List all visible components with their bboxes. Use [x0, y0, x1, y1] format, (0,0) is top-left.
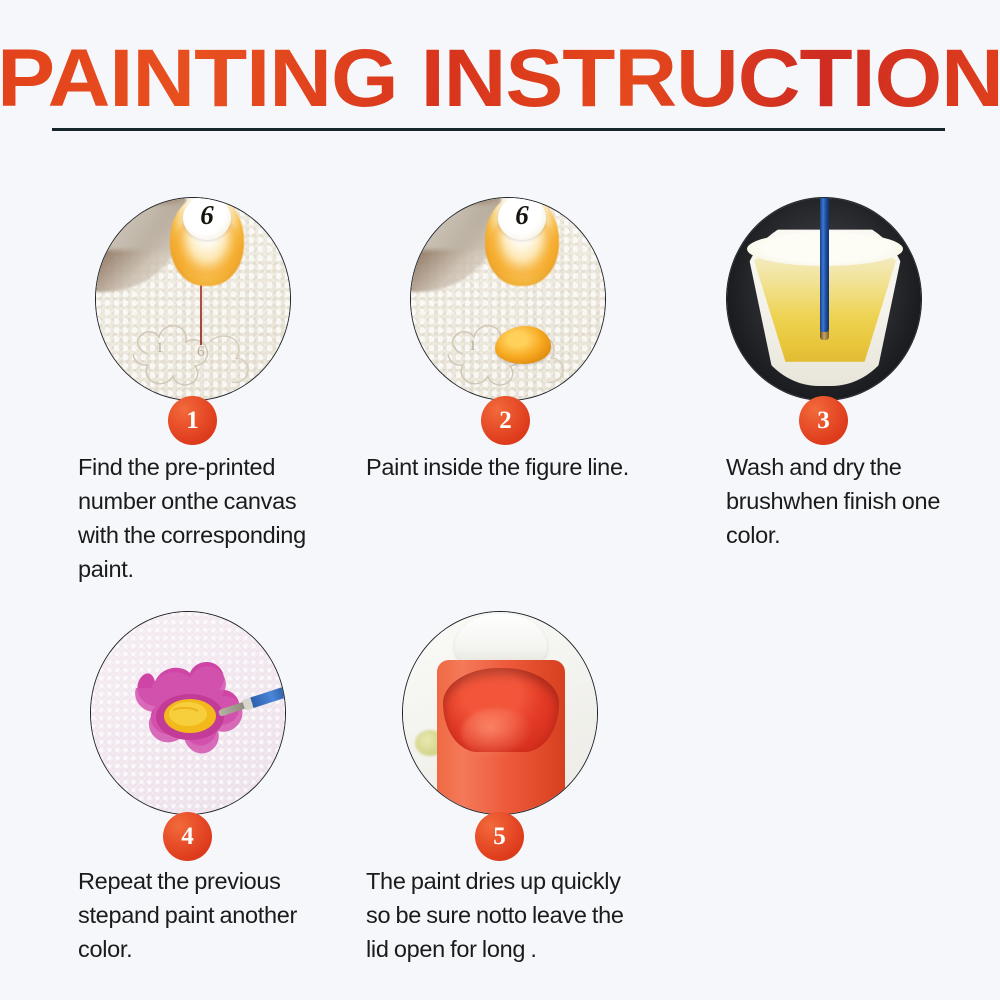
orange-paint-blob — [495, 326, 551, 364]
step-4-badge: 4 — [163, 812, 212, 861]
canvas-number-6: 6 — [197, 344, 205, 361]
paint-pot: 6 — [485, 197, 559, 286]
paint-pot: 6 — [170, 197, 244, 286]
steps-grid: 1 6 6 1 Find the pre-printed number onth… — [0, 0, 1000, 1000]
step-1: 1 6 6 — [95, 197, 291, 401]
pot-number-label: 6 — [170, 200, 244, 231]
canvas-number-1: 1 — [469, 338, 477, 355]
step-4-caption: Repeat the previous stepand paint anothe… — [78, 864, 333, 966]
pencil-flower-outline — [114, 308, 276, 396]
blue-brush-handle — [820, 197, 829, 332]
step-3-image — [726, 197, 922, 401]
table-edge-highlight — [410, 204, 497, 250]
canvas-number-1: 1 — [156, 340, 164, 357]
step-5-image — [402, 611, 598, 815]
step-1-caption: Find the pre-printed number onthe canvas… — [78, 450, 338, 586]
step-2-caption: Paint inside the figure line. — [366, 450, 656, 484]
painted-pink-flower — [101, 654, 279, 774]
step-2-badge: 2 — [481, 396, 530, 445]
step-1-image: 1 6 6 — [95, 197, 291, 401]
painting-instruction-infographic: PAINTING INSTRUCTION 1 — [0, 0, 1000, 1000]
step-4-image — [90, 611, 286, 815]
table-edge-highlight — [95, 204, 182, 250]
pot-number-label: 6 — [485, 200, 559, 231]
paint-highlight — [461, 708, 533, 758]
step-5-badge: 5 — [475, 812, 524, 861]
step-3-badge: 3 — [799, 396, 848, 445]
step-3-caption: Wash and dry the brushwhen finish one co… — [726, 450, 956, 552]
step-5 — [402, 611, 598, 815]
step-2-image: 1 6 — [410, 197, 606, 401]
step-3 — [726, 197, 922, 401]
step-5-caption: The paint dries up quickly so be sure no… — [366, 864, 641, 966]
step-1-badge: 1 — [168, 396, 217, 445]
step-4 — [90, 611, 286, 815]
step-2: 1 6 — [410, 197, 606, 401]
